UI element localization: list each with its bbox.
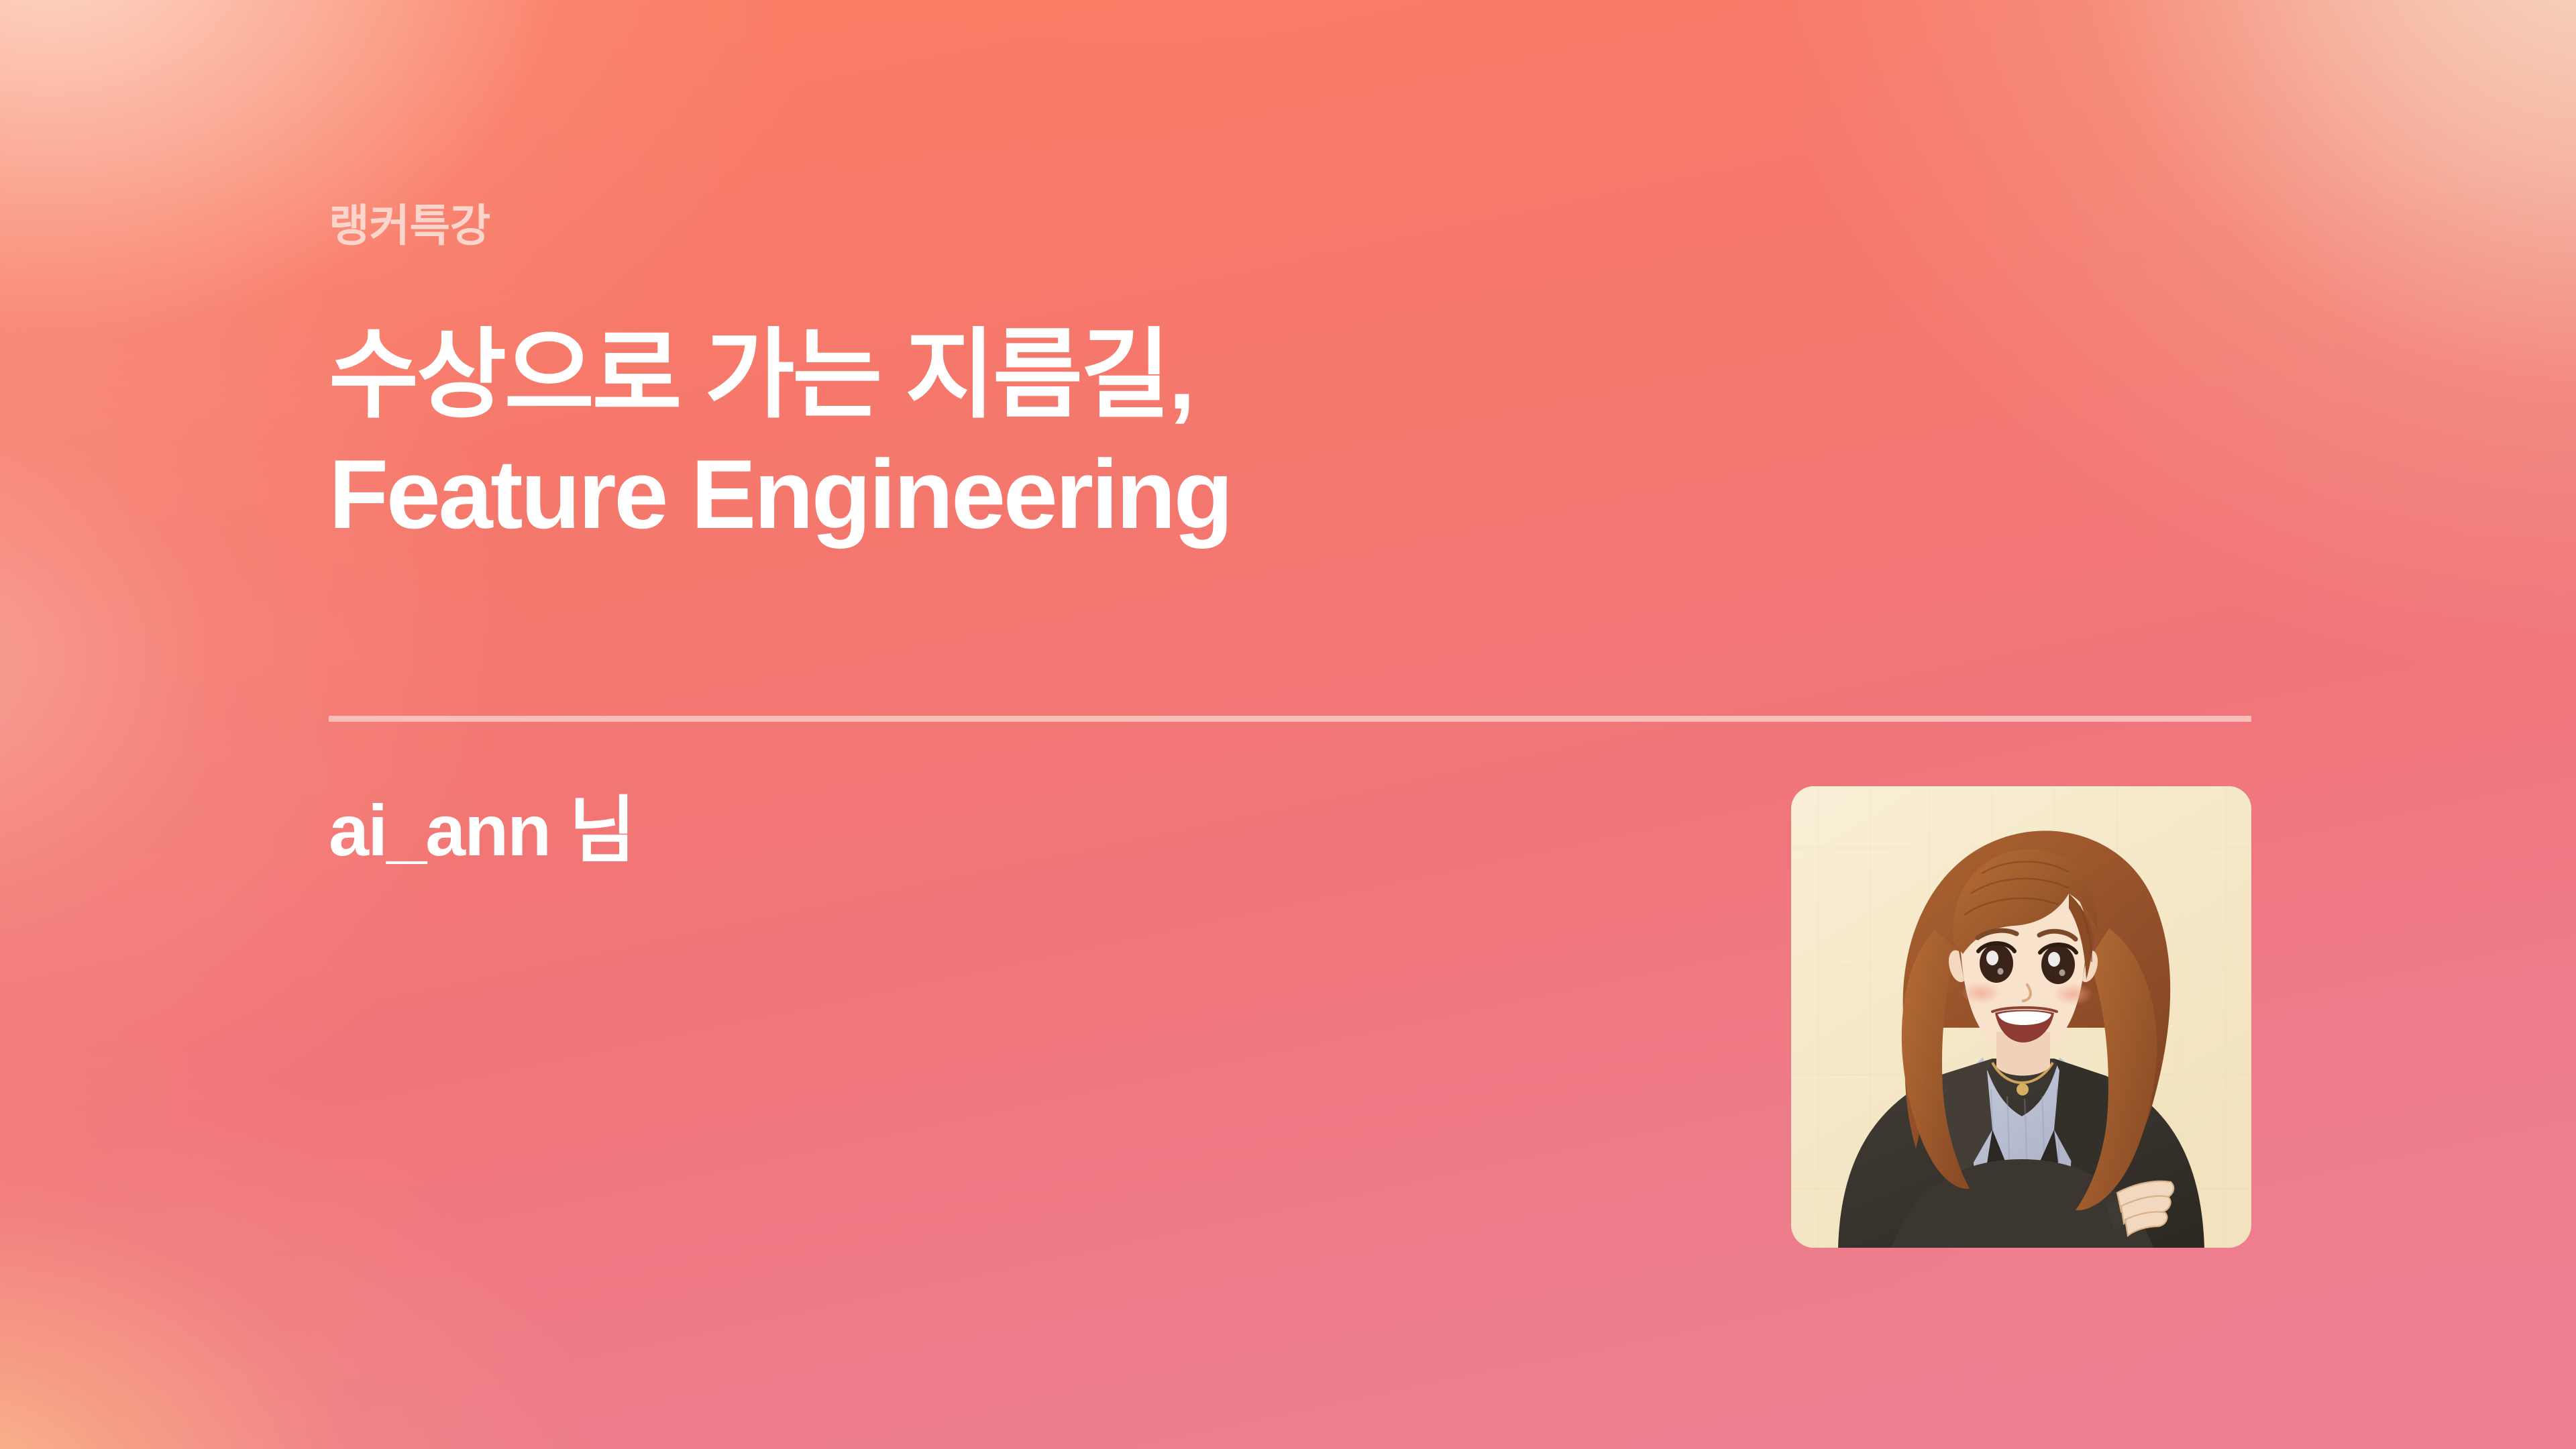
eyebrow-label: 랭커특강 bbox=[329, 201, 490, 250]
page-title: 수상으로 가는 지름길, Feature Engineering bbox=[329, 315, 1939, 554]
presentation-slide: 랭커특강 수상으로 가는 지름길, Feature Engineering ai… bbox=[0, 0, 2576, 1449]
speaker-portrait-card bbox=[1791, 786, 2251, 1248]
speaker-avatar bbox=[1791, 786, 2251, 1248]
title-divider bbox=[329, 716, 2251, 722]
page-title-line-2: Feature Engineering bbox=[329, 435, 1939, 554]
page-title-line-1: 수상으로 가는 지름길, bbox=[329, 315, 1939, 435]
speaker-name: ai_ann 님 bbox=[329, 787, 635, 874]
